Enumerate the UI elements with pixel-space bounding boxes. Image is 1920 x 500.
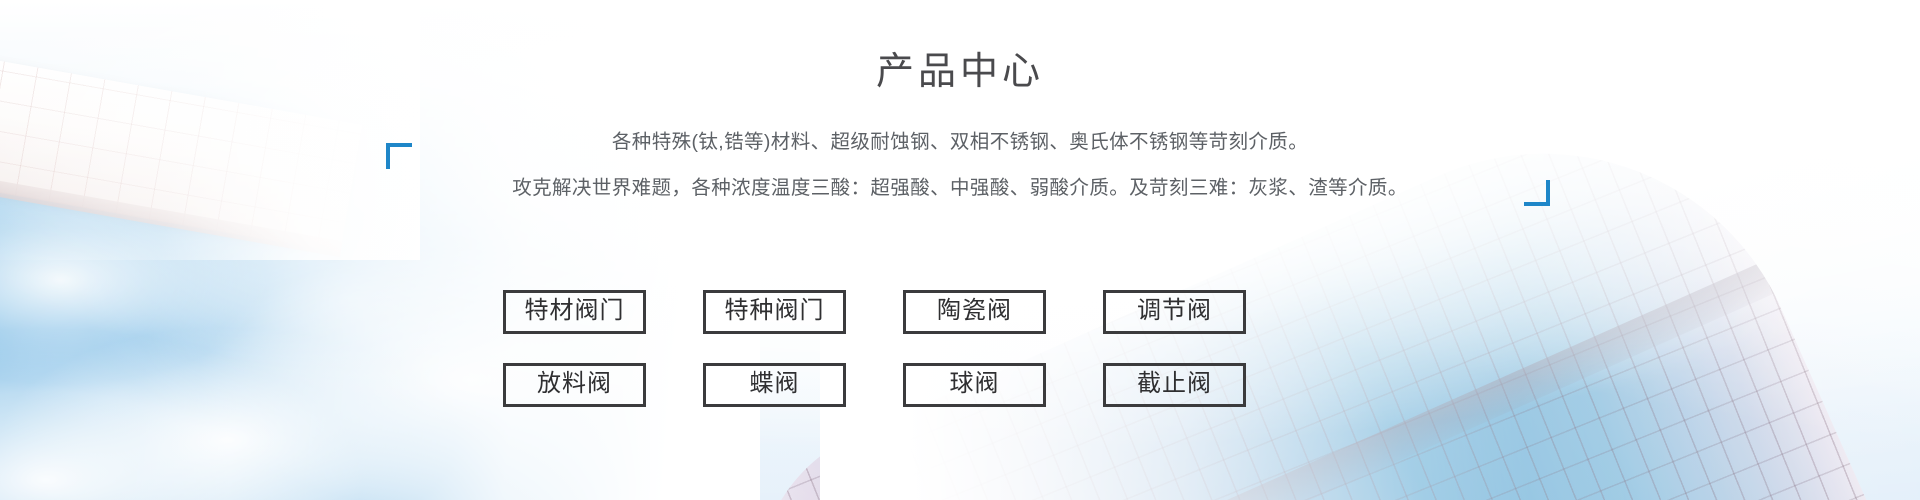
- description-line-1: 各种特殊(钛,锆等)材料、超级耐蚀钢、双相不锈钢、奥氏体不锈钢等苛刻介质。: [0, 128, 1920, 157]
- category-button-butterfly-valve[interactable]: 蝶阀: [703, 363, 846, 407]
- category-button-grid: 特材阀门 特种阀门 陶瓷阀 调节阀 放料阀 蝶阀 球阀 截止阀: [503, 290, 1418, 407]
- category-button-special-material-valve[interactable]: 特材阀门: [503, 290, 646, 334]
- category-button-ceramic-valve[interactable]: 陶瓷阀: [903, 290, 1046, 334]
- product-center-banner: 产品中心 各种特殊(钛,锆等)材料、超级耐蚀钢、双相不锈钢、奥氏体不锈钢等苛刻介…: [0, 0, 1920, 500]
- category-button-discharge-valve[interactable]: 放料阀: [503, 363, 646, 407]
- description-line-2: 攻克解决世界难题，各种浓度温度三酸：超强酸、中强酸、弱酸介质。及苛刻三难：灰浆、…: [0, 174, 1920, 203]
- page-title: 产品中心: [0, 50, 1920, 96]
- category-button-control-valve[interactable]: 调节阀: [1103, 290, 1246, 334]
- category-button-globe-valve[interactable]: 截止阀: [1103, 363, 1246, 407]
- banner-content: 产品中心 各种特殊(钛,锆等)材料、超级耐蚀钢、双相不锈钢、奥氏体不锈钢等苛刻介…: [0, 0, 1920, 500]
- category-button-special-type-valve[interactable]: 特种阀门: [703, 290, 846, 334]
- corner-bracket-top-left-icon: [386, 143, 412, 169]
- category-button-ball-valve[interactable]: 球阀: [903, 363, 1046, 407]
- corner-bracket-bottom-right-icon: [1524, 180, 1550, 206]
